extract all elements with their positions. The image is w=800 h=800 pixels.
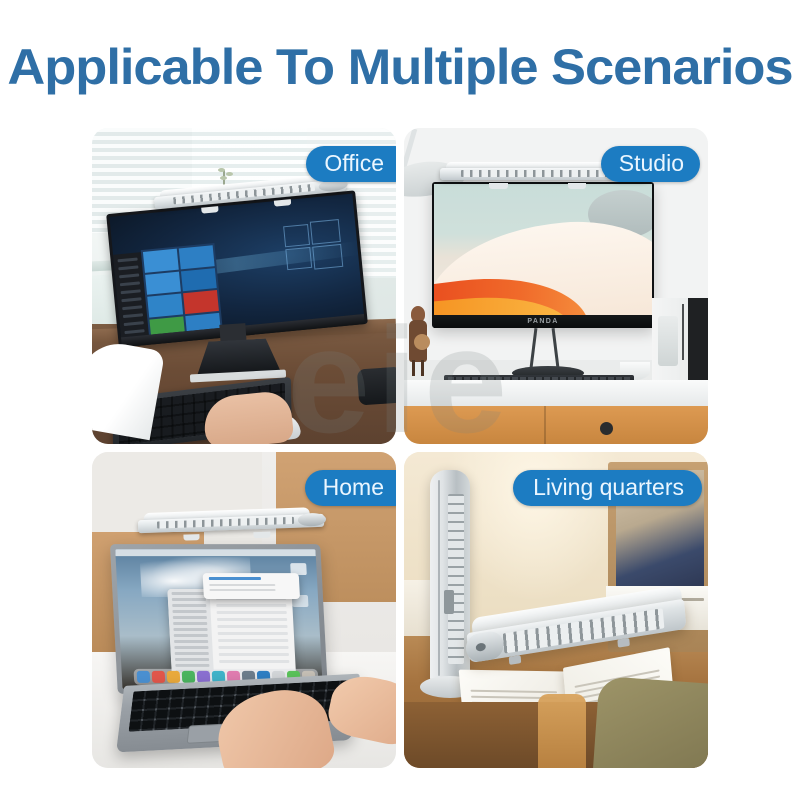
desk-object bbox=[538, 694, 586, 768]
light-bar-clip bbox=[489, 183, 508, 189]
scenario-tile-office[interactable]: Office bbox=[92, 128, 396, 444]
start-menu-tile bbox=[183, 290, 219, 314]
scenario-grid: Office PANDA bbox=[92, 128, 708, 772]
finder-file-list bbox=[210, 593, 296, 667]
wooden-figurine bbox=[408, 306, 428, 378]
page-title: Applicable To Multiple Scenarios bbox=[0, 38, 800, 96]
dock-icon bbox=[167, 671, 181, 683]
tower-fan-grille bbox=[448, 494, 464, 664]
dock-icon bbox=[137, 671, 151, 683]
monitor-screen bbox=[434, 184, 652, 315]
scenario-tile-studio[interactable]: PANDA Studio bbox=[404, 128, 708, 444]
desk-phone bbox=[357, 367, 396, 406]
scenario-tile-living-quarters[interactable]: Living quarters bbox=[404, 452, 708, 768]
desktop-monitor: PANDA bbox=[432, 182, 654, 328]
badge-living-quarters[interactable]: Living quarters bbox=[513, 470, 702, 506]
monitor-chin: PANDA bbox=[434, 315, 652, 328]
badge-office[interactable]: Office bbox=[306, 146, 396, 182]
badge-home[interactable]: Home bbox=[305, 470, 396, 506]
start-menu-tile bbox=[181, 268, 217, 292]
light-bar-clip bbox=[183, 534, 200, 541]
chair bbox=[593, 676, 708, 768]
light-bar-clip bbox=[254, 532, 271, 539]
start-menu-tiles bbox=[141, 243, 223, 337]
dock-icon bbox=[152, 671, 166, 683]
dock-icon bbox=[182, 671, 196, 683]
drawer-knob bbox=[600, 422, 613, 435]
light-bar-vents bbox=[461, 170, 613, 177]
shelf-decor bbox=[652, 298, 708, 384]
start-menu-tile bbox=[145, 271, 181, 295]
light-bar-clip bbox=[568, 183, 587, 189]
start-menu-tile bbox=[143, 249, 179, 273]
wooden-drawers bbox=[404, 406, 708, 444]
monitor-brand-label: PANDA bbox=[527, 318, 558, 325]
tower-fan bbox=[426, 470, 474, 702]
tower-fan-control-panel bbox=[444, 590, 454, 614]
badge-studio[interactable]: Studio bbox=[601, 146, 700, 182]
finder-dialog bbox=[203, 573, 300, 599]
monitor-screen bbox=[109, 194, 363, 338]
start-menu-tile bbox=[179, 245, 215, 269]
laptop-screen bbox=[115, 549, 323, 689]
windows-logo-icon bbox=[283, 221, 341, 270]
laptop-lid bbox=[110, 544, 328, 694]
macos-menu-bar bbox=[115, 549, 316, 556]
scenario-tile-home[interactable]: Home bbox=[92, 452, 396, 768]
start-menu-tile bbox=[147, 293, 183, 317]
white-desk bbox=[404, 380, 708, 406]
